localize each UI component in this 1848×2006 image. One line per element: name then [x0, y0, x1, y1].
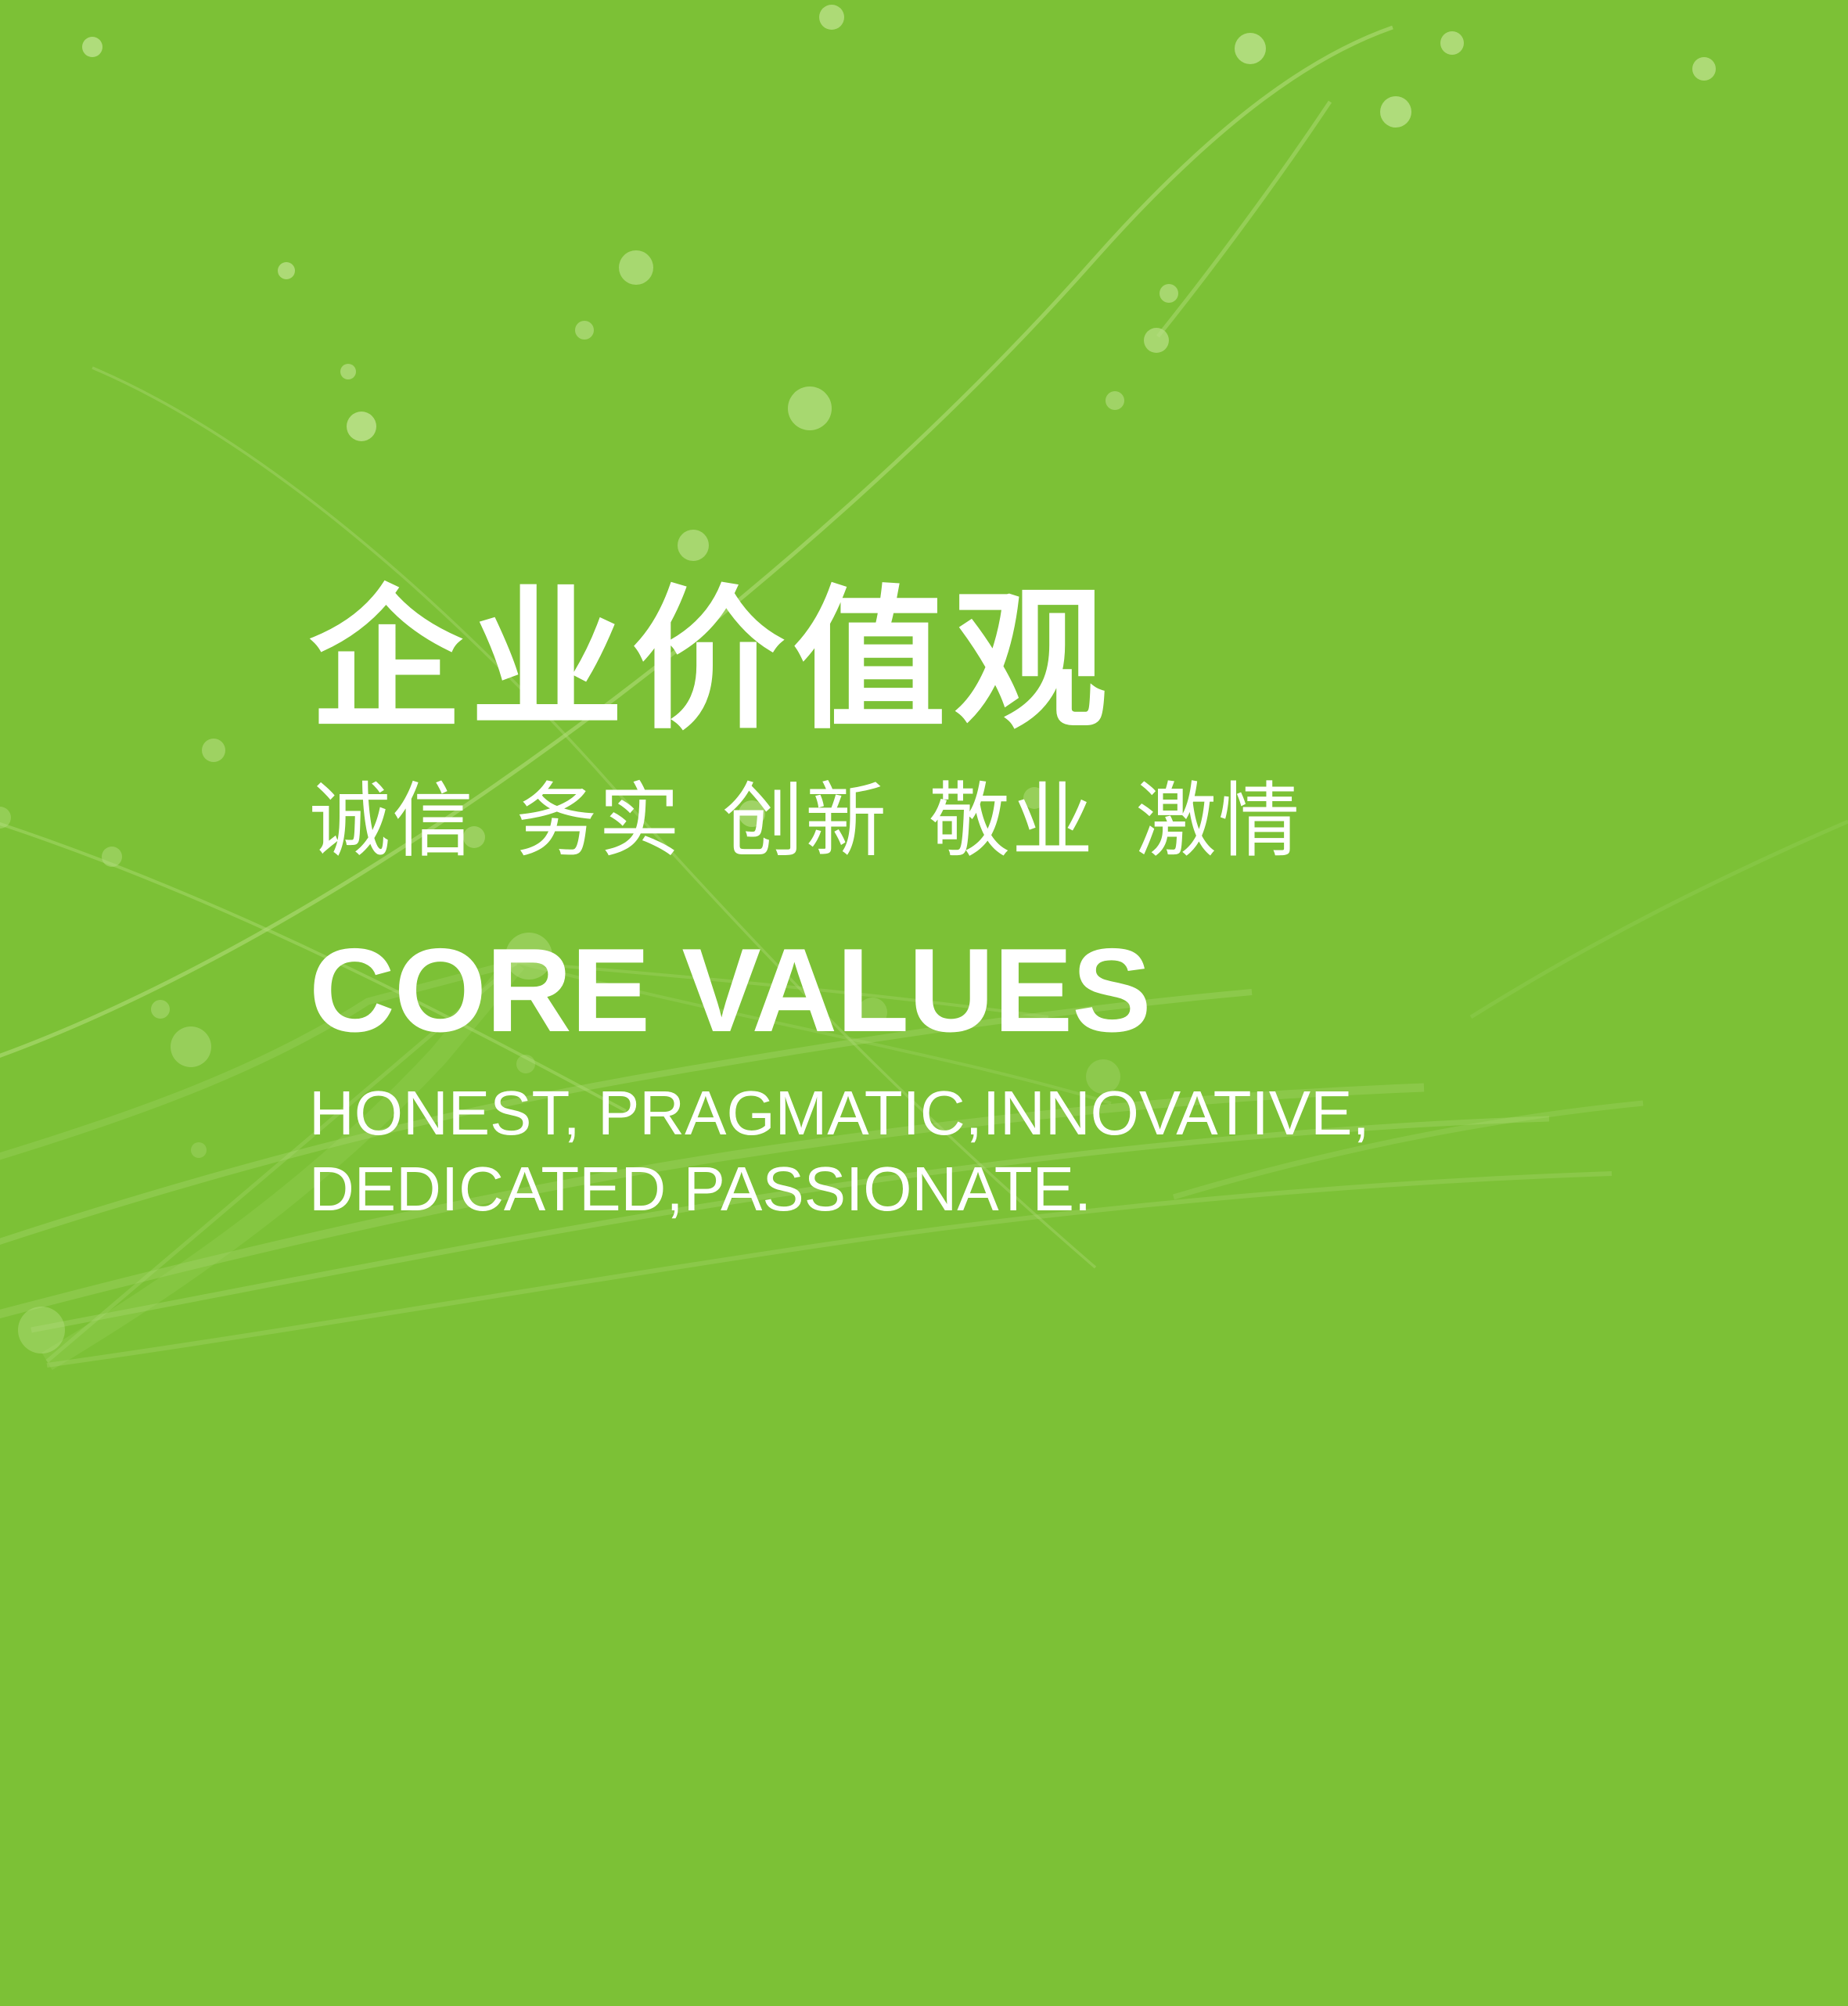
value-item-chinese-4: 敬业 [929, 776, 1095, 867]
decor-dot [347, 412, 376, 441]
headline-block: 企业价值观 诚信务实创新敬业激情 CORE VALUES HONEST, PRA… [309, 575, 1717, 1228]
decor-dot [819, 5, 844, 30]
decor-dot [1106, 391, 1124, 410]
decor-dot [1440, 31, 1464, 55]
decor-dot [278, 262, 295, 279]
decor-dot [340, 364, 356, 379]
core-values-poster: 企业价值观 诚信务实创新敬业激情 CORE VALUES HONEST, PRA… [0, 0, 1848, 2006]
decor-dot [1235, 33, 1266, 64]
decor-dot [82, 37, 102, 57]
decor-dot [619, 250, 653, 285]
page-title-english: CORE VALUES [309, 931, 1717, 1050]
decor-dot [575, 321, 594, 340]
value-item-chinese-5: 激情 [1135, 776, 1301, 867]
decor-dot [1159, 284, 1178, 303]
decor-dot [1380, 96, 1411, 128]
decor-dot [151, 1000, 170, 1019]
values-english-line-2: DEDICATED,PASSIONATE. [309, 1151, 1717, 1228]
value-item-chinese-2: 务实 [516, 776, 681, 867]
decor-dot [18, 1307, 65, 1354]
decor-dot [171, 1026, 211, 1067]
decor-dot [102, 847, 122, 867]
values-english-line-1: HONEST, PRAGMATIC,INNOVATIVE, [309, 1075, 1717, 1152]
decor-dot [191, 1142, 207, 1158]
decor-dot [788, 386, 832, 430]
decor-dot [202, 739, 225, 762]
values-list-chinese: 诚信务实创新敬业激情 [309, 769, 1717, 875]
value-item-chinese-3: 创新 [722, 776, 888, 867]
decor-dot [678, 530, 709, 561]
decor-dot [0, 807, 11, 829]
page-title-chinese: 企业价值观 [309, 575, 1717, 747]
values-list-english: HONEST, PRAGMATIC,INNOVATIVE, DEDICATED,… [309, 1075, 1717, 1228]
value-item-chinese-1: 诚信 [309, 776, 475, 867]
decor-dot [1692, 57, 1716, 81]
decor-dot [1144, 328, 1169, 353]
